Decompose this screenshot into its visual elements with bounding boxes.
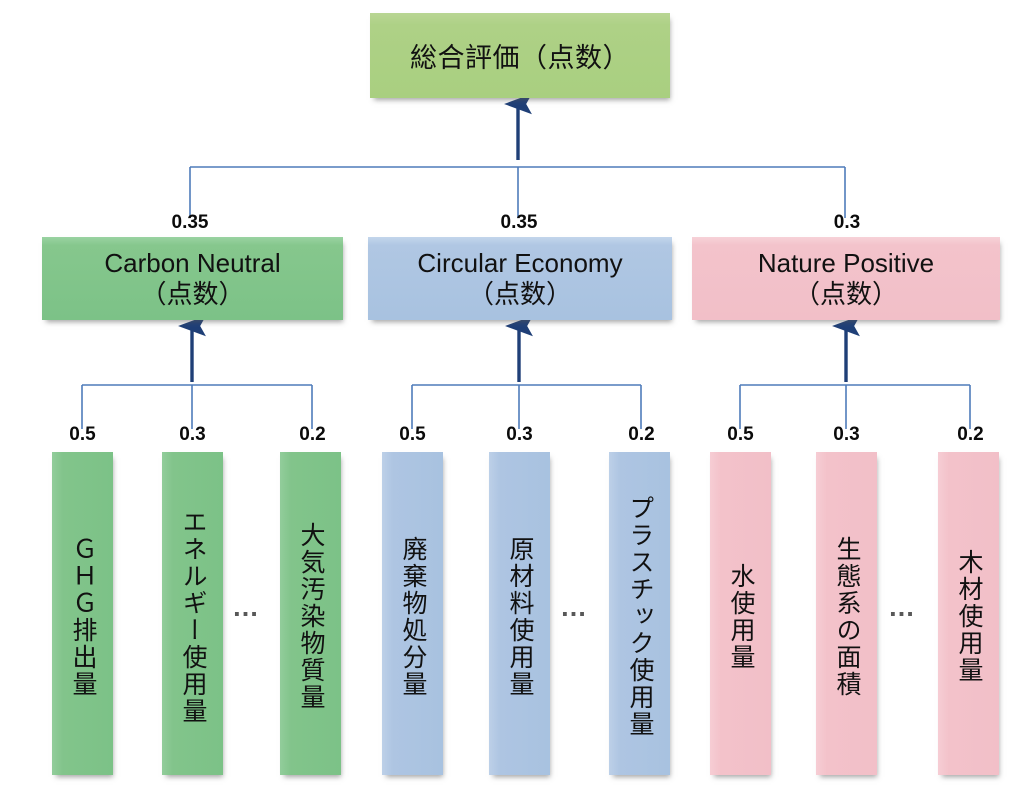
connector-group-1-bus xyxy=(82,385,312,429)
node-circular-economy-label-jp: （点数） xyxy=(468,279,572,309)
node-nature-positive-label-jp: （点数） xyxy=(794,279,898,309)
leaf-raw-material-use-label: 原材料使用量 xyxy=(506,536,533,698)
weight-nature-positive: 0.3 xyxy=(812,212,882,234)
ellipsis-group-2: … xyxy=(560,592,589,623)
weight-plastic-use: 0.2 xyxy=(604,424,679,446)
node-circular-economy-label-en: Circular Economy xyxy=(417,248,622,278)
leaf-ghg-emissions-label: ＧＨＧ排出量 xyxy=(69,536,96,698)
ellipsis-group-1: … xyxy=(232,592,261,623)
ellipsis-group-3: … xyxy=(888,592,917,623)
weight-energy-use: 0.3 xyxy=(155,424,230,446)
leaf-plastic-use[interactable]: プラスチック使用量 xyxy=(609,452,670,775)
leaf-waste-disposal[interactable]: 廃棄物処分量 xyxy=(382,452,443,775)
weight-ecosystem-area: 0.3 xyxy=(809,424,884,446)
weight-timber-use: 0.2 xyxy=(933,424,1008,446)
node-nature-positive-label-en: Nature Positive xyxy=(758,248,934,278)
weight-air-pollutants: 0.2 xyxy=(275,424,350,446)
node-nature-positive[interactable]: Nature Positive （点数） xyxy=(692,237,1000,320)
leaf-timber-use-label: 木材使用量 xyxy=(955,549,982,684)
leaf-ecosystem-area[interactable]: 生態系の面積 xyxy=(816,452,877,775)
node-overall-score[interactable]: 総合評価（点数） xyxy=(370,13,670,98)
leaf-water-use[interactable]: 水使用量 xyxy=(710,452,771,775)
weight-waste-disposal: 0.5 xyxy=(375,424,450,446)
leaf-energy-use[interactable]: エネルギー使用量 xyxy=(162,452,223,775)
leaf-air-pollutants-label: 大気汚染物質量 xyxy=(297,522,324,711)
weight-circular-economy: 0.35 xyxy=(479,212,559,234)
leaf-ecosystem-area-label: 生態系の面積 xyxy=(833,536,860,698)
leaf-plastic-use-label: プラスチック使用量 xyxy=(626,495,653,738)
leaf-raw-material-use[interactable]: 原材料使用量 xyxy=(489,452,550,775)
node-circular-economy[interactable]: Circular Economy （点数） xyxy=(368,237,672,320)
connector-group-2-bus xyxy=(412,385,641,429)
leaf-timber-use[interactable]: 木材使用量 xyxy=(938,452,999,775)
node-overall-score-label: 総合評価（点数） xyxy=(410,36,630,75)
connector-root-bus xyxy=(190,167,845,218)
node-carbon-neutral-label-jp: （点数） xyxy=(140,279,244,309)
weight-raw-material-use: 0.3 xyxy=(482,424,557,446)
weight-ghg-emissions: 0.5 xyxy=(45,424,120,446)
leaf-waste-disposal-label: 廃棄物処分量 xyxy=(399,536,426,698)
connector-group-3-bus xyxy=(740,385,970,429)
leaf-air-pollutants[interactable]: 大気汚染物質量 xyxy=(280,452,341,775)
weight-water-use: 0.5 xyxy=(703,424,778,446)
diagram-canvas: 総合評価（点数） 0.35 0.35 0.3 Carbon Neutral （点… xyxy=(0,0,1023,805)
weight-carbon-neutral: 0.35 xyxy=(150,212,230,234)
node-carbon-neutral[interactable]: Carbon Neutral （点数） xyxy=(42,237,343,320)
leaf-energy-use-label: エネルギー使用量 xyxy=(179,509,206,725)
leaf-ghg-emissions[interactable]: ＧＨＧ排出量 xyxy=(52,452,113,775)
node-carbon-neutral-label-en: Carbon Neutral xyxy=(104,248,280,278)
leaf-water-use-label: 水使用量 xyxy=(727,563,754,671)
